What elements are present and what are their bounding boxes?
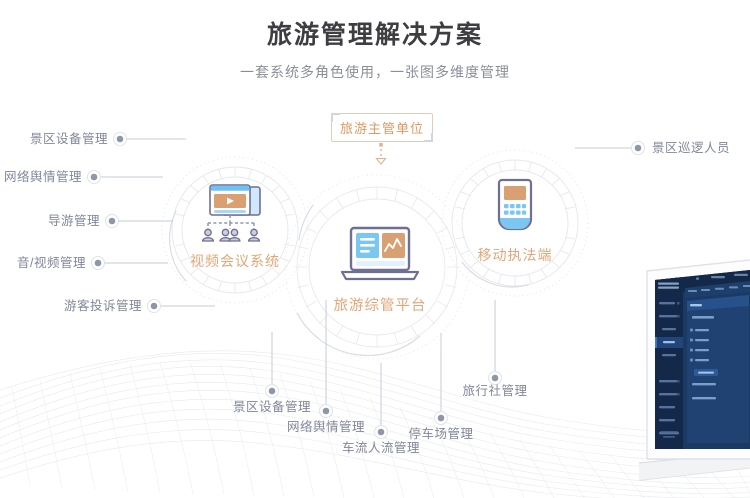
label-left-5[interactable]: 游客投诉管理	[0, 298, 142, 314]
label-bottom-5[interactable]: 旅行社管理	[435, 383, 555, 399]
infographic-canvas: 旅游管理解决方案 一套系统多角色使用，一张图多维度管理 旅游主管单位 视频会议系…	[0, 0, 750, 498]
node-video-conference[interactable]: 视频会议系统	[170, 183, 300, 271]
mobile-terminal-icon	[489, 177, 541, 239]
header: 旅游管理解决方案 一套系统多角色使用，一张图多维度管理	[0, 18, 750, 82]
node-video-conference-label: 视频会议系统	[170, 251, 300, 271]
label-left-3[interactable]: 导游管理	[0, 213, 100, 229]
label-right-1[interactable]: 景区巡逻人员	[652, 140, 730, 156]
video-conference-icon	[196, 183, 274, 245]
authority-badge[interactable]: 旅游主管单位	[331, 113, 433, 142]
label-bottom-2[interactable]: 网络舆情管理	[266, 419, 386, 435]
label-left-4[interactable]: 音/视频管理	[0, 255, 86, 271]
label-left-2[interactable]: 网络舆情管理	[0, 169, 82, 185]
node-tourism-platform-label: 旅游综管平台	[295, 294, 465, 315]
page-title: 旅游管理解决方案	[0, 18, 750, 52]
authority-badge-label: 旅游主管单位	[340, 118, 424, 137]
right-connector-dots	[632, 142, 645, 155]
node-mobile-enforcement[interactable]: 移动执法端	[450, 177, 580, 265]
label-bottom-3[interactable]: 车流人流管理	[321, 440, 441, 456]
laptop-device-mock	[639, 253, 750, 498]
label-bottom-4[interactable]: 停车场管理	[381, 426, 501, 442]
label-left-1[interactable]: 景区设备管理	[0, 131, 108, 147]
background-wave-mesh	[0, 318, 750, 498]
label-bottom-1[interactable]: 景区设备管理	[212, 399, 332, 415]
node-mobile-enforcement-label: 移动执法端	[450, 245, 580, 265]
authority-arrow-icon	[377, 143, 386, 164]
page-subtitle: 一套系统多角色使用，一张图多维度管理	[0, 62, 750, 82]
node-tourism-platform[interactable]: 旅游综管平台	[295, 226, 465, 315]
laptop-dashboard-icon	[334, 226, 426, 288]
